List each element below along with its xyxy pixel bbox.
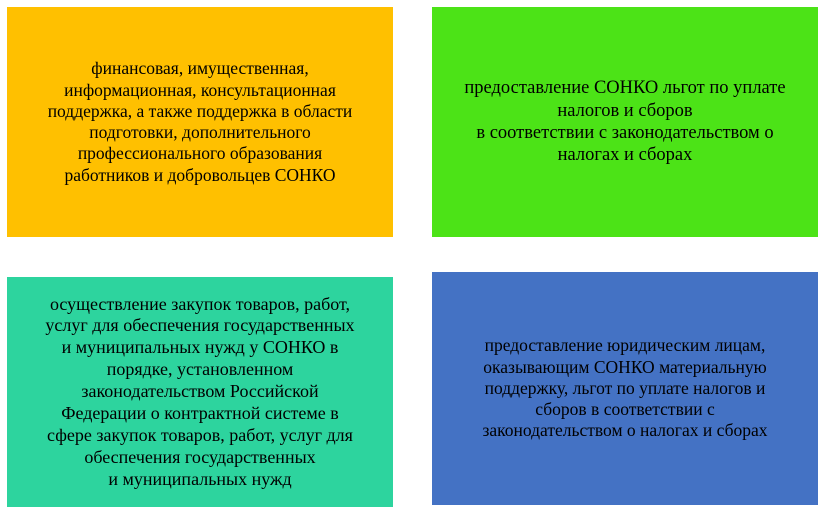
- panel-support-measures: финансовая, имущественная, информационна…: [7, 7, 393, 237]
- panel-procurement: осуществление закупок товаров, работ, ус…: [7, 277, 393, 507]
- panel-support-measures-text: финансовая, имущественная, информационна…: [7, 58, 393, 186]
- panel-legal-entities-benefits-text: предоставление юридическим лицам, оказыв…: [432, 335, 818, 441]
- slide-canvas: финансовая, имущественная, информационна…: [0, 0, 827, 515]
- panel-procurement-text: осуществление закупок товаров, работ, ус…: [7, 294, 393, 491]
- panel-tax-benefits-text: предоставление СОНКО льгот по уплате нал…: [432, 77, 818, 167]
- panel-tax-benefits: предоставление СОНКО льгот по уплате нал…: [432, 7, 818, 237]
- panel-legal-entities-benefits: предоставление юридическим лицам, оказыв…: [432, 272, 818, 505]
